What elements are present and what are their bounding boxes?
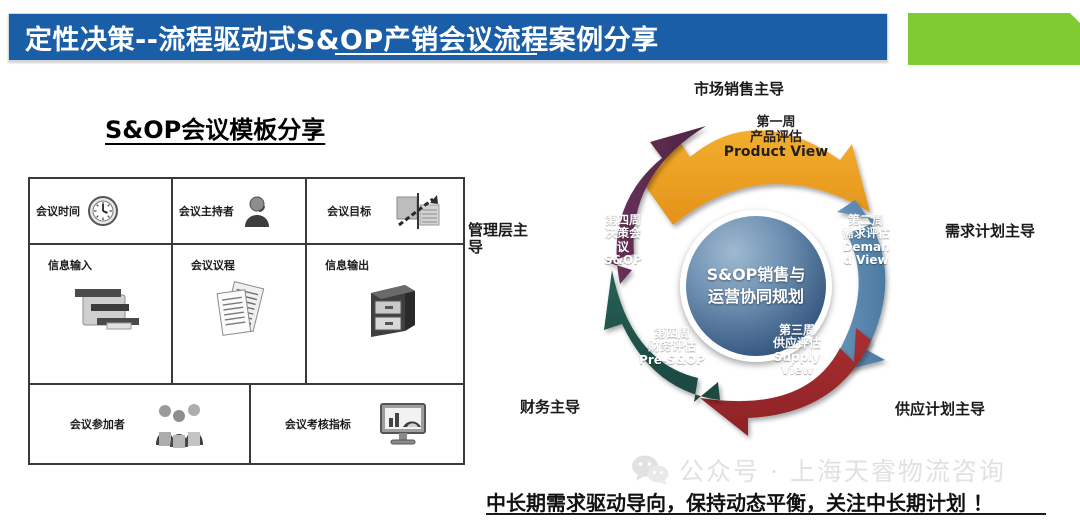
- file-cabinet-icon: [361, 279, 421, 341]
- hub-line-1: S&OP销售与: [707, 264, 806, 286]
- cycle-hub-text: S&OP销售与 运营协同规划: [707, 264, 806, 309]
- cycle-segment-week2-demand[interactable]: [823, 200, 885, 376]
- cell-label: 会议目标: [327, 203, 371, 219]
- person-icon: [242, 194, 272, 228]
- bottom-note: 中长期需求驱动导向，保持动态平衡，关注中长期计划 ！: [486, 487, 993, 516]
- cell-meeting-host[interactable]: 会议主持者: [173, 179, 307, 243]
- cell-label: 会议议程: [191, 257, 235, 273]
- accent-green-block: [908, 13, 1080, 65]
- cell-label: 信息输出: [325, 257, 369, 273]
- cell-label: 会议考核指标: [285, 416, 351, 432]
- owner-label-finance: 财务主导: [520, 396, 580, 417]
- owner-label-supply-plan: 供应计划主导: [895, 398, 985, 419]
- dashboard-monitor-icon: [377, 401, 429, 447]
- cell-meeting-time[interactable]: 会议时间: [30, 179, 173, 243]
- page-title: 定性决策--流程驱动式S&OP产销会议流程案例分享: [9, 18, 659, 57]
- cycle-hub: S&OP销售与 运营协同规划: [680, 210, 832, 362]
- left-panel-heading: S&OP会议模板分享: [105, 110, 325, 145]
- management-lead-label: 管理层主导: [468, 222, 528, 257]
- bottom-note-underline: [486, 513, 1046, 515]
- table-row: 信息输入 会议议程: [30, 243, 463, 383]
- agenda-papers-icon: [212, 279, 278, 341]
- cell-label: 信息输入: [48, 257, 92, 273]
- slide-canvas: 定性决策--流程驱动式S&OP产销会议流程案例分享 S&OP会议模板分享 会议时…: [0, 0, 1080, 521]
- table-row: 会议时间: [30, 179, 463, 243]
- title-underline: [335, 53, 537, 55]
- people-group-icon: [151, 399, 209, 449]
- table-row: 会议参加者: [30, 383, 463, 463]
- cell-meeting-goal[interactable]: 会议目标: [307, 179, 463, 243]
- hub-line-2: 运营协同规划: [707, 286, 806, 308]
- meeting-template-table: 会议时间: [28, 177, 465, 465]
- clock-icon: [86, 194, 120, 228]
- owner-label-demand-plan: 需求计划主导: [945, 220, 1035, 241]
- cell-label: 会议时间: [36, 203, 80, 219]
- cell-meeting-agenda[interactable]: 会议议程: [173, 245, 307, 383]
- documents-in-icon: [67, 279, 145, 337]
- cell-label: 会议主持者: [179, 203, 234, 219]
- cell-info-input[interactable]: 信息输入: [30, 245, 173, 383]
- owner-label-market-sales: 市场销售主导: [694, 78, 784, 99]
- cell-kpi[interactable]: 会议考核指标: [251, 385, 463, 463]
- target-chart-icon: [393, 191, 443, 231]
- cell-info-output[interactable]: 信息输出: [307, 245, 463, 383]
- cell-label: 会议参加者: [70, 416, 125, 432]
- cell-participants[interactable]: 会议参加者: [30, 385, 251, 463]
